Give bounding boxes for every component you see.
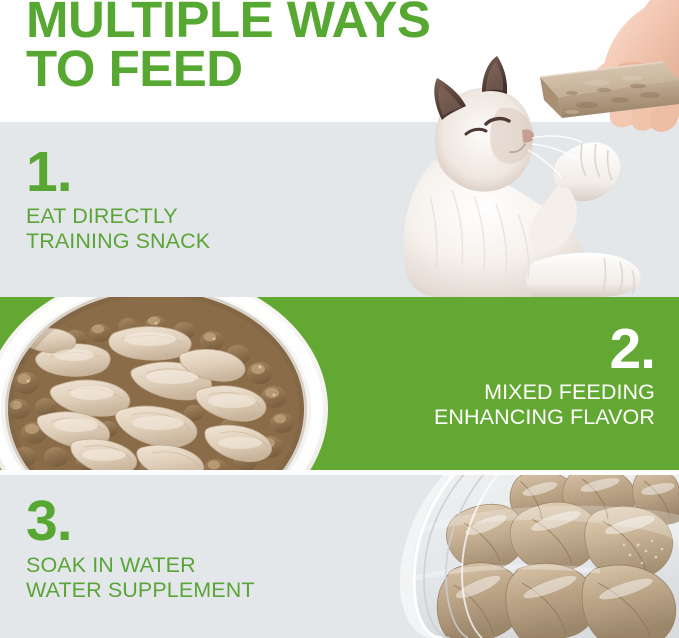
infographic-root: MULTIPLE WAYS TO FEED 1. EAT DIRECTLY TR… <box>0 0 679 638</box>
bowl-of-kibble-and-chicken-photo <box>0 297 330 470</box>
step-1-text-block: 1. EAT DIRECTLY TRAINING SNACK <box>26 148 210 253</box>
step-panel-1: 1. EAT DIRECTLY TRAINING SNACK <box>0 122 679 297</box>
step-1-caption: EAT DIRECTLY TRAINING SNACK <box>26 204 210 252</box>
step-3-text-block: 3. SOAK IN WATER WATER SUPPLEMENT <box>26 497 255 602</box>
treats-soaking-in-water-photo <box>350 475 679 638</box>
step-1-number: 1. <box>26 148 210 196</box>
step-2-text-block: 2. MIXED FEEDING ENHANCING FLAVOR <box>434 325 655 429</box>
bowl-photo-illustration <box>0 297 330 470</box>
step-2-caption: MIXED FEEDING ENHANCING FLAVOR <box>434 380 655 428</box>
step-3-number: 3. <box>26 497 255 545</box>
soak-photo-illustration <box>350 475 679 638</box>
step-2-number: 2. <box>434 325 655 373</box>
step-panel-3: 3. SOAK IN WATER WATER SUPPLEMENT <box>0 475 679 638</box>
step-3-caption: SOAK IN WATER WATER SUPPLEMENT <box>26 553 255 601</box>
header-band: MULTIPLE WAYS TO FEED <box>0 0 679 122</box>
step-panel-2: 2. MIXED FEEDING ENHANCING FLAVOR <box>0 297 679 470</box>
page-title: MULTIPLE WAYS TO FEED <box>26 0 430 94</box>
